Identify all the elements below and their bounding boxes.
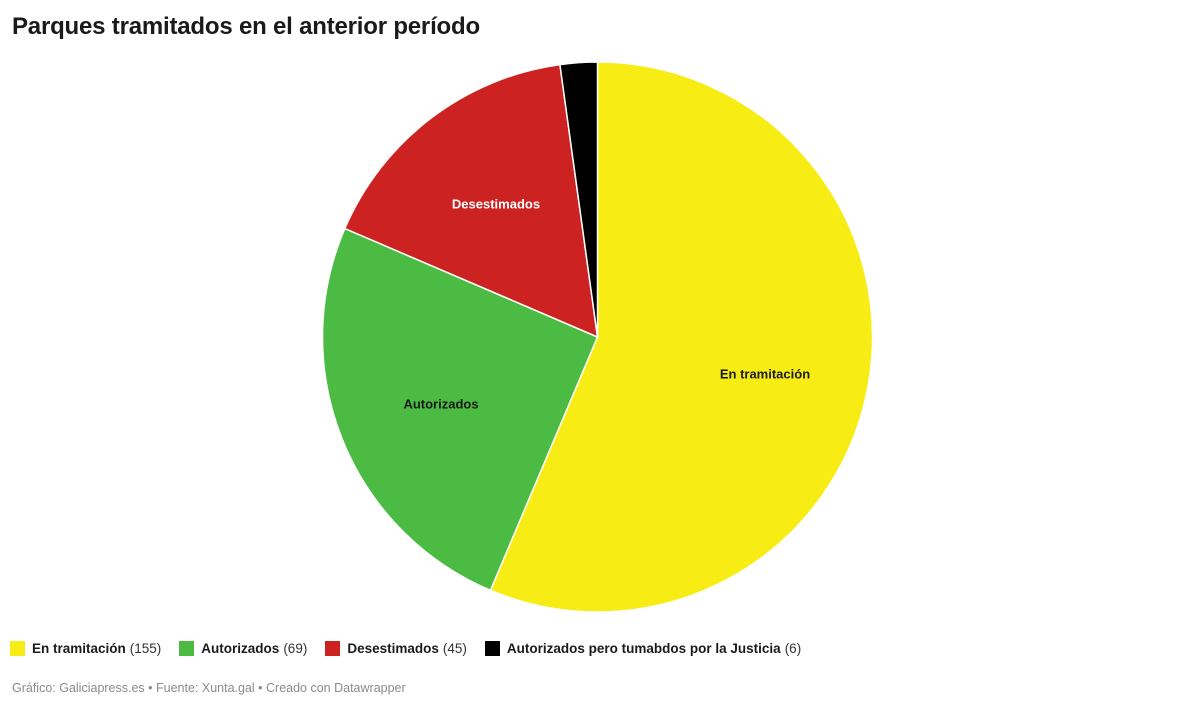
pie-slice-label: Autorizados (403, 396, 478, 411)
pie-chart-area: En tramitaciónAutorizadosDesestimados (0, 46, 1199, 624)
legend-item-value: (6) (785, 641, 802, 656)
pie-slice-label: En tramitación (720, 366, 810, 381)
legend-item[interactable]: Autorizados(69) (179, 641, 307, 656)
legend-item-value: (69) (283, 641, 307, 656)
legend-item-label: En tramitación (32, 641, 126, 656)
page-title: Parques tramitados en el anterior períod… (12, 12, 1112, 42)
pie-slice-label: Desestimados (452, 196, 540, 211)
chart-container: Parques tramitados en el anterior períod… (0, 0, 1199, 709)
legend-swatch-icon (325, 641, 340, 656)
legend-item-label: Autorizados pero tumabdos por la Justici… (507, 641, 781, 656)
legend-item[interactable]: Desestimados(45) (325, 641, 467, 656)
legend-swatch-icon (179, 641, 194, 656)
legend-item-value: (155) (130, 641, 162, 656)
legend-item-label: Autorizados (201, 641, 279, 656)
legend: En tramitación(155)Autorizados(69)Desest… (10, 634, 1190, 662)
footer-credits: Gráfico: Galiciapress.es • Fuente: Xunta… (12, 680, 406, 696)
legend-item-label: Desestimados (347, 641, 439, 656)
legend-item[interactable]: En tramitación(155) (10, 641, 161, 656)
legend-item-value: (45) (443, 641, 467, 656)
legend-swatch-icon (10, 641, 25, 656)
legend-item[interactable]: Autorizados pero tumabdos por la Justici… (485, 641, 801, 656)
pie-slice-group (323, 62, 873, 612)
pie-chart-svg: En tramitaciónAutorizadosDesestimados (0, 46, 1199, 624)
legend-swatch-icon (485, 641, 500, 656)
